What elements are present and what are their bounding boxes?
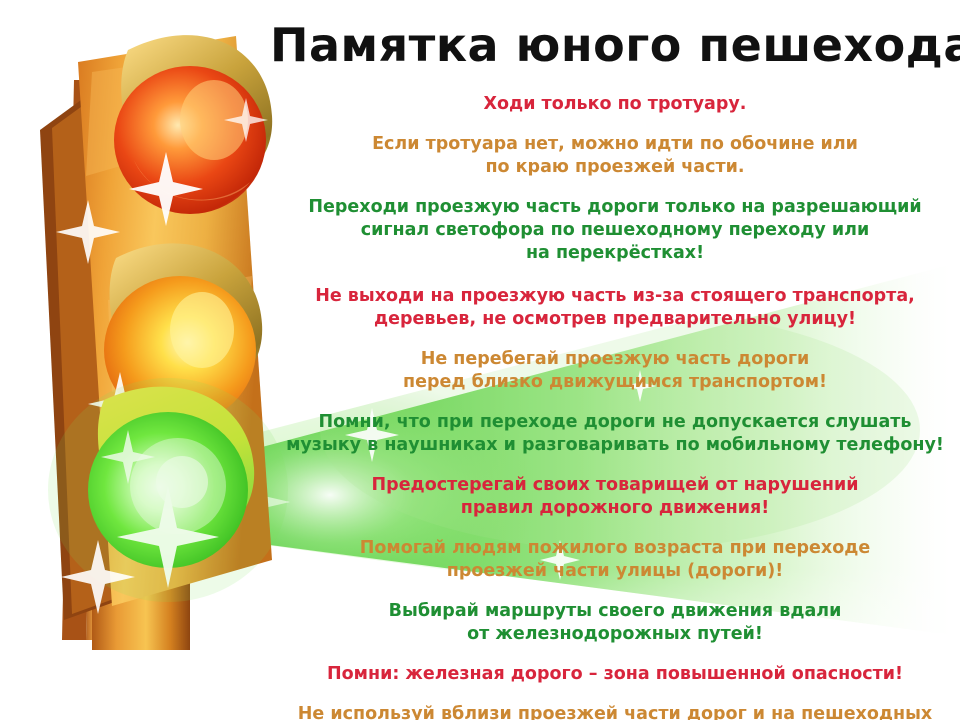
green-lamp xyxy=(48,378,288,602)
rule-2: Если тротуара нет, можно идти по обочине… xyxy=(270,133,960,179)
poster-root: Памятка юного пешехода Ходи только по тр… xyxy=(0,0,960,720)
rule-10: Помни: железная дорого – зона повышенной… xyxy=(270,663,960,686)
rule-1: Ходи только по тротуару. xyxy=(270,93,960,116)
rule-4: Не выходи на проезжую часть из-за стояще… xyxy=(270,285,960,331)
traffic-light-illustration xyxy=(0,0,300,700)
rule-9: Выбирай маршруты своего движения вдали о… xyxy=(270,600,960,646)
rule-5: Не перебегай проезжую часть дороги перед… xyxy=(270,348,960,394)
rule-11: Не используй вблизи проезжей части дорог… xyxy=(270,703,960,720)
rule-7: Предостерегай своих товарищей от нарушен… xyxy=(270,474,960,520)
rule-8: Помогай людям пожилого возраста при пере… xyxy=(270,537,960,583)
rule-3: Переходи проезжую часть дороги только на… xyxy=(270,196,960,265)
page-title: Памятка юного пешехода xyxy=(270,18,960,72)
rule-6: Помни, что при переходе дороги не допуск… xyxy=(270,411,960,457)
text-column: Памятка юного пешехода Ходи только по тр… xyxy=(270,18,960,720)
